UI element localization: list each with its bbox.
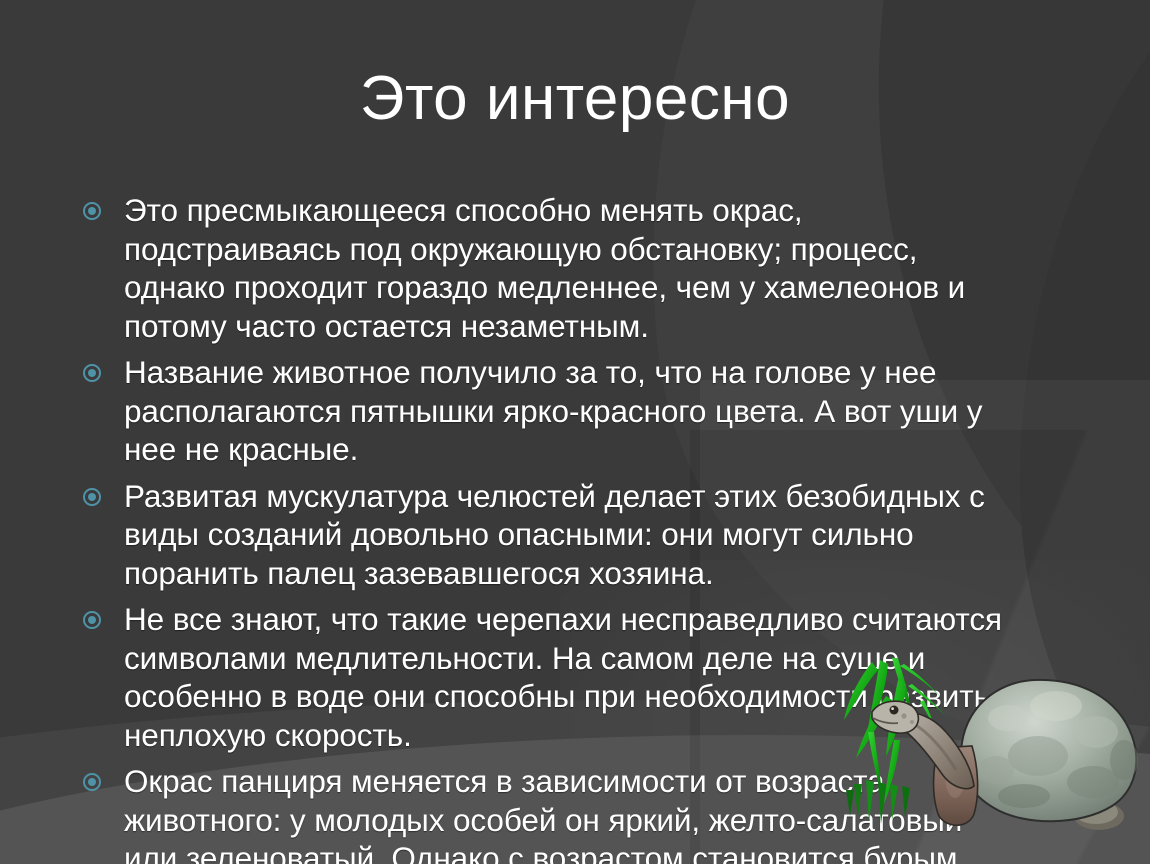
presentation-slide: Это интересно Это пресмыкающееся способн… [0,0,1150,864]
list-item: Развитая мускулатура челюстей делает эти… [70,477,1030,593]
ring-dot-bullet-icon [83,364,101,382]
list-item-text: Это пресмыкающееся способно менять окрас… [124,191,965,345]
list-item-text: Окрас панциря меняется в зависимости от … [124,762,974,864]
slide-title: Это интересно [0,66,1150,131]
list-item: Название животное получило за то, что на… [70,353,1030,469]
ring-dot-bullet-icon [83,488,101,506]
list-item: Это пресмыкающееся способно менять окрас… [70,191,1030,345]
ring-dot-bullet-icon [83,611,101,629]
bullet-list: Это пресмыкающееся способно менять окрас… [70,191,1030,864]
ring-dot-bullet-icon [83,202,101,220]
list-item-text: Не все знают, что такие черепахи несправ… [124,600,1002,754]
list-item: Окрас панциря меняется в зависимости от … [70,762,1030,864]
list-item: Не все знают, что такие черепахи несправ… [70,600,1030,754]
list-item-text: Название животное получило за то, что на… [124,353,982,469]
list-item-text: Развитая мускулатура челюстей делает эти… [124,477,985,593]
ring-dot-bullet-icon [83,773,101,791]
